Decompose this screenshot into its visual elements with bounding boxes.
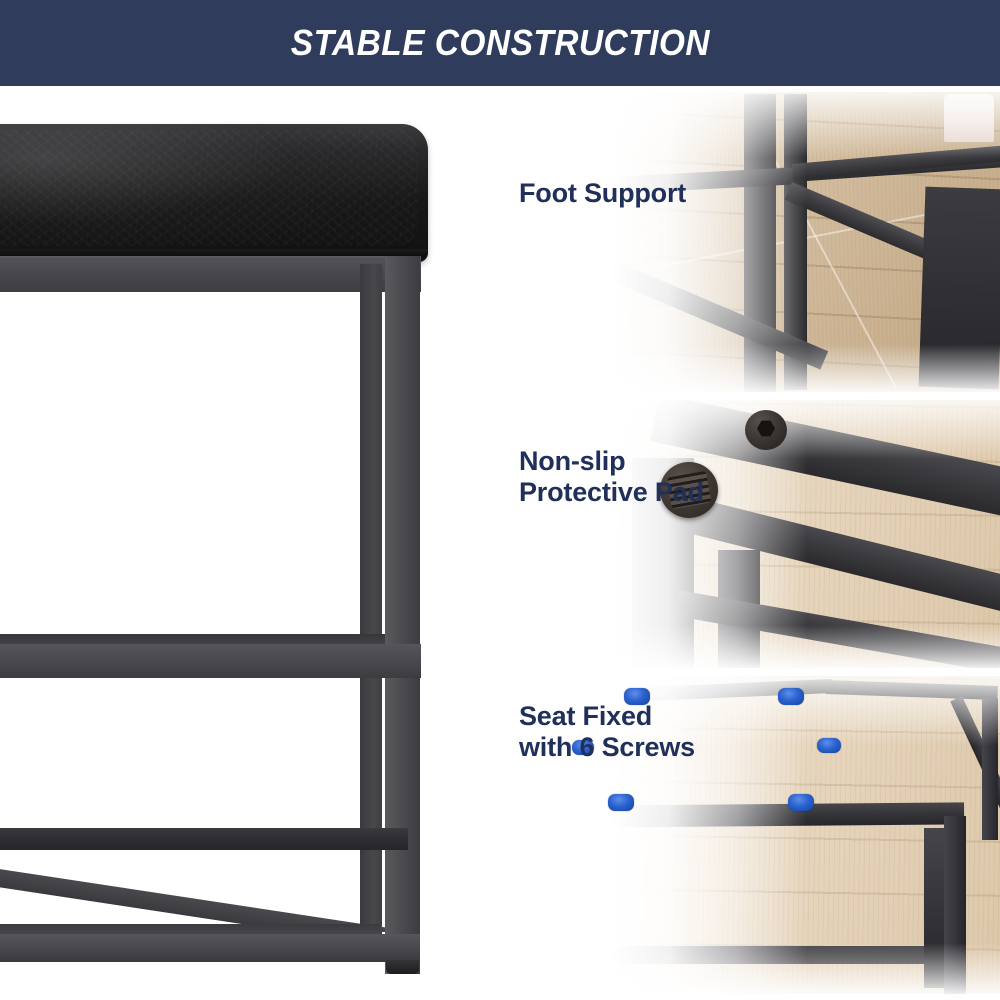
stool-leg-rear-right <box>982 698 998 840</box>
stool-crossbar-middle <box>0 644 421 678</box>
hex-screw <box>745 410 787 450</box>
screw-marker-2 <box>778 688 804 705</box>
feature-panel-seat-screws: Seat Fixed with 6 Screws <box>492 676 1000 994</box>
screw-marker-5 <box>608 794 634 811</box>
header-banner: STABLE CONSTRUCTION <box>0 0 1000 86</box>
feature-panel-protective-pad: Non-slip Protective Pad <box>492 400 1000 668</box>
infographic-page: STABLE CONSTRUCTION <box>0 0 1000 1000</box>
stool-foot-cap <box>386 960 419 974</box>
feature-label-foot-support: Foot Support <box>519 178 686 209</box>
main-product-photo <box>0 88 492 1000</box>
stool-seat-apron <box>0 256 421 292</box>
protective-pad-photo <box>492 400 1000 668</box>
stool-footrest-bar <box>0 828 408 850</box>
decor-pot <box>944 94 994 142</box>
counter-stool-illustration <box>0 88 432 968</box>
screw-marker-4 <box>817 738 841 753</box>
stool-bottom-rail <box>0 934 420 962</box>
apron-top-edge <box>0 256 421 260</box>
foot-support-photo <box>492 92 1000 392</box>
footrest-bar <box>584 946 924 964</box>
stool-leg-front-right <box>385 256 420 974</box>
screw-marker-6 <box>788 794 814 811</box>
stool-diagonal-strut <box>0 848 385 932</box>
frame-inner-rail-left <box>564 828 584 988</box>
frame-rail-front-top <box>542 802 964 828</box>
stool-leg-front-left <box>544 816 566 994</box>
frame-inner-rail-right <box>924 828 944 988</box>
stool-leg-front-right <box>944 816 966 994</box>
hex-socket-icon <box>757 420 775 437</box>
feature-panel-foot-support: Foot Support <box>492 92 1000 392</box>
stool-leg-left-angled <box>540 94 562 254</box>
feature-label-seat-screws: Seat Fixed with 6 Screws <box>519 701 695 762</box>
page-title: STABLE CONSTRUCTION <box>290 22 709 64</box>
frame-rail-far-right <box>919 187 1000 390</box>
feature-label-protective-pad: Non-slip Protective Pad <box>519 446 704 507</box>
feature-panel-column: Foot Support <box>492 88 1000 1000</box>
stool-seat-cushion <box>0 124 428 262</box>
leather-texture <box>0 130 418 246</box>
